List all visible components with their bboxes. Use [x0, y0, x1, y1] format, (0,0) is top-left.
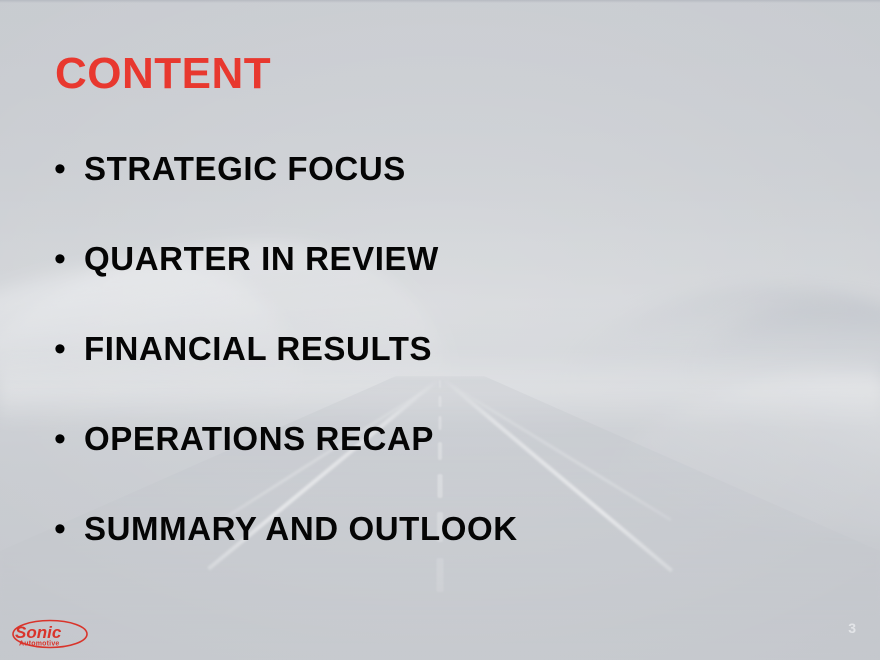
agenda-item-summary-and-outlook[interactable]: • SUMMARY AND OUTLOOK [50, 510, 830, 600]
agenda-item-financial-results[interactable]: • FINANCIAL RESULTS [50, 330, 830, 420]
agenda-bullet-list: • STRATEGIC FOCUS • QUARTER IN REVIEW • … [50, 150, 830, 600]
agenda-item-quarter-in-review[interactable]: • QUARTER IN REVIEW [50, 240, 830, 330]
bullet-dot-icon: • [50, 150, 84, 188]
agenda-item-label: STRATEGIC FOCUS [84, 150, 406, 188]
agenda-item-label: FINANCIAL RESULTS [84, 330, 432, 368]
page-number: 3 [816, 618, 856, 638]
agenda-item-label: SUMMARY AND OUTLOOK [84, 510, 518, 548]
slide-title: CONTENT [55, 52, 271, 96]
agenda-item-strategic-focus[interactable]: • STRATEGIC FOCUS [50, 150, 830, 240]
bullet-dot-icon: • [50, 510, 84, 548]
sonic-automotive-logo-icon: Sonic Automotive [11, 618, 89, 650]
bullet-dot-icon: • [50, 330, 84, 368]
agenda-item-operations-recap[interactable]: • OPERATIONS RECAP [50, 420, 830, 510]
bullet-dot-icon: • [50, 240, 84, 278]
presentation-slide: CONTENT • STRATEGIC FOCUS • QUARTER IN R… [0, 0, 880, 660]
agenda-item-label: QUARTER IN REVIEW [84, 240, 439, 278]
sonic-automotive-logo: Sonic Automotive [11, 618, 89, 650]
logo-primary-text: Sonic [15, 623, 62, 642]
logo-secondary-text: Automotive [19, 641, 60, 648]
agenda-item-label: OPERATIONS RECAP [84, 420, 434, 458]
slide-content: CONTENT • STRATEGIC FOCUS • QUARTER IN R… [0, 0, 880, 660]
bullet-dot-icon: • [50, 420, 84, 458]
